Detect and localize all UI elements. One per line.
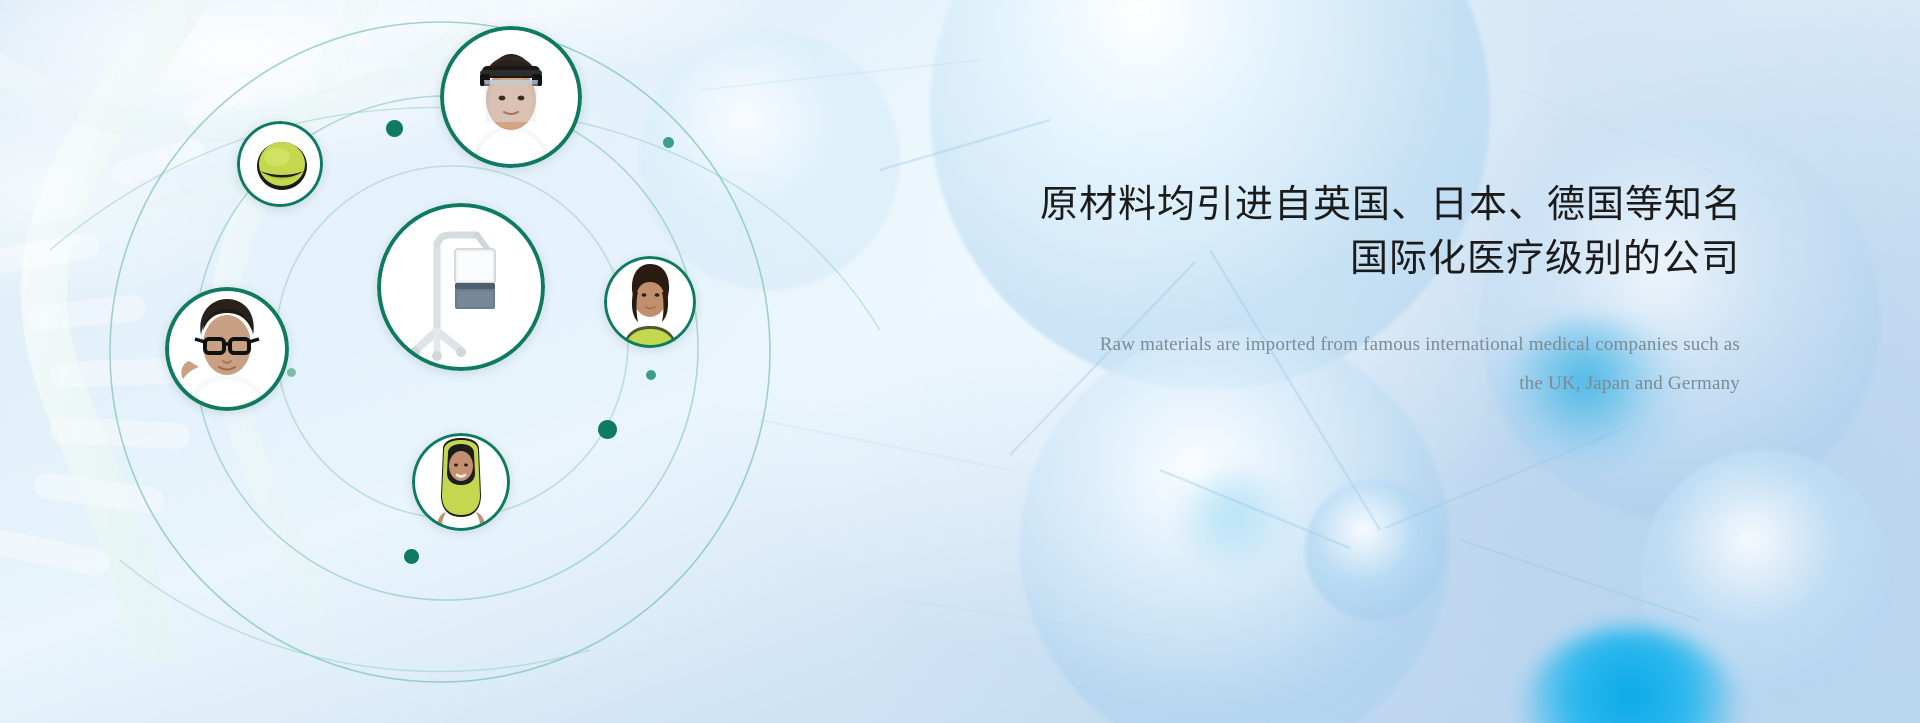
photo-bubble-doctor-face-shield[interactable] <box>440 26 582 168</box>
banner-headline: 原材料均引进自英国、日本、德国等知名 国际化医疗级别的公司 <box>1040 178 1740 286</box>
headline-line-1: 原材料均引进自英国、日本、德国等知名 <box>1040 182 1742 226</box>
photo-bubble-doctor-lead-glasses[interactable] <box>165 287 289 411</box>
accent-dot <box>646 370 656 380</box>
mobile-x-ray-lead-shield-stand-image <box>377 203 545 371</box>
hero-banner: 原材料均引进自英国、日本、德国等知名 国际化医疗级别的公司 Raw materi… <box>0 0 1920 723</box>
accent-dot <box>598 420 617 439</box>
headline-line-2: 国际化医疗级别的公司 <box>1040 232 1740 286</box>
accent-dot <box>386 120 403 137</box>
banner-text-block: 原材料均引进自英国、日本、德国等知名 国际化医疗级别的公司 Raw materi… <box>1040 178 1740 404</box>
doctor-with-lead-glasses-image <box>165 287 289 411</box>
accent-dot <box>663 137 674 148</box>
photo-bubble-lead-cap[interactable] <box>237 121 323 207</box>
lead-protective-cap-image <box>237 121 323 207</box>
woman-with-lead-hood-image <box>412 433 510 531</box>
woman-with-thyroid-collar-image <box>604 256 696 348</box>
photo-bubble-woman-lead-hood[interactable] <box>412 433 510 531</box>
subtitle-line-1: Raw materials are imported from famous i… <box>1100 334 1740 355</box>
banner-subtitle: Raw materials are imported from famous i… <box>1040 326 1740 404</box>
cyan-highlight <box>1170 470 1290 570</box>
doctor-with-lead-face-shield-image <box>440 26 582 168</box>
photo-bubble-xray-shield-stand[interactable] <box>377 203 545 371</box>
photo-bubble-woman-thyroid-collar[interactable] <box>604 256 696 348</box>
accent-dot <box>404 549 419 564</box>
subtitle-line-2: the UK, Japan and Germany <box>1040 365 1740 404</box>
